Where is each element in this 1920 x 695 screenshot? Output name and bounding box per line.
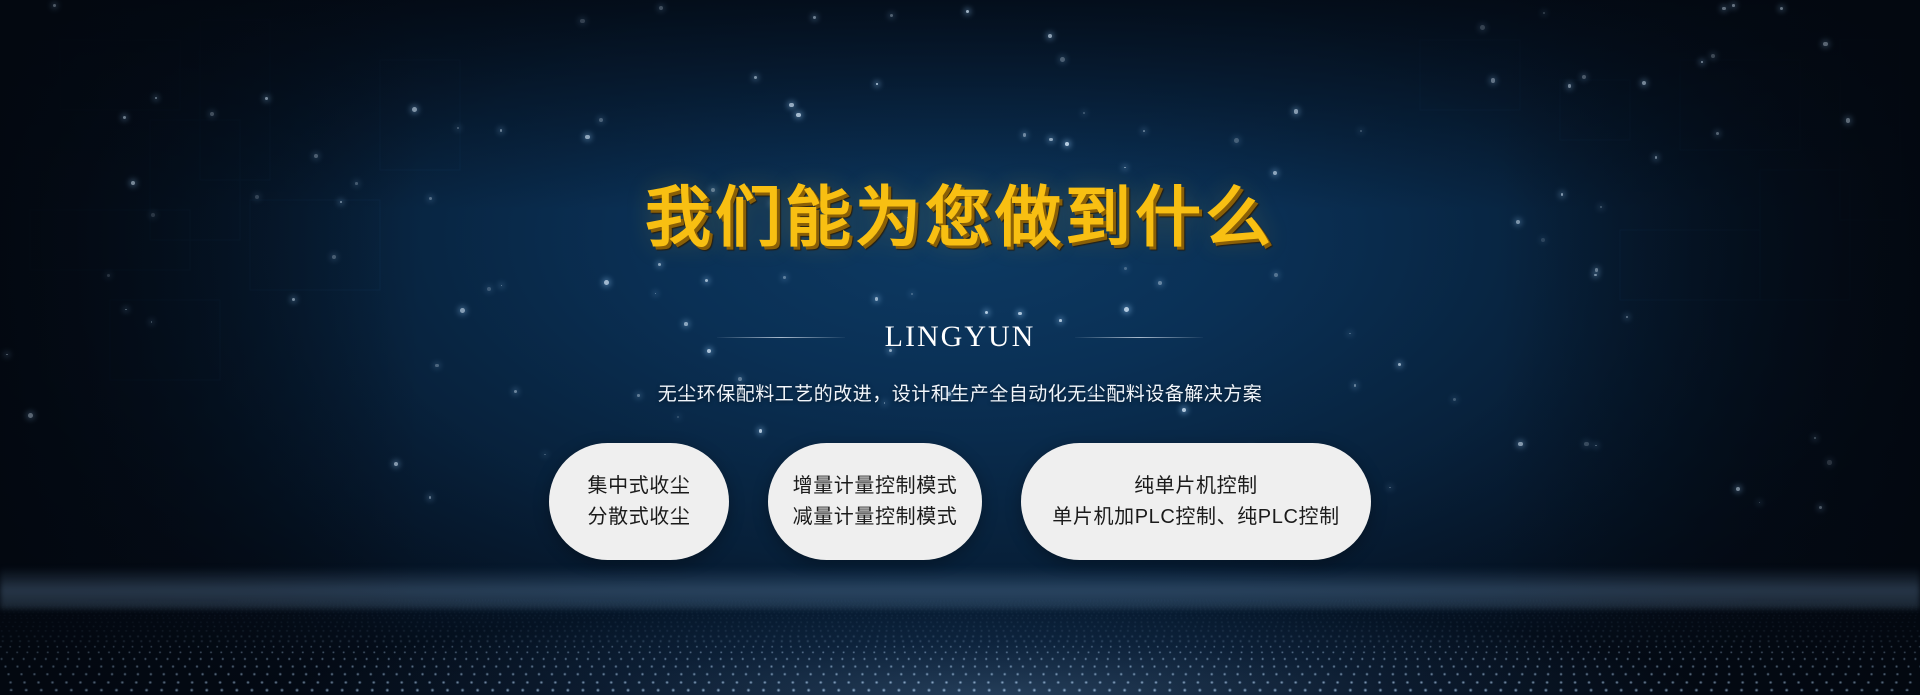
divider-line-left: [717, 337, 845, 338]
card-line: 集中式收尘: [588, 476, 691, 496]
hero-banner: 我们能为您做到什么 LINGYUN 无尘环保配料工艺的改进，设计和生产全自动化无…: [0, 0, 1920, 695]
card-line: 减量计量控制模式: [793, 507, 958, 527]
card-line: 纯单片机控制: [1134, 476, 1258, 496]
feature-card-metering-control-mode[interactable]: 增量计量控制模式 减量计量控制模式: [768, 443, 982, 560]
brand-subtitle: LINGYUN: [885, 322, 1036, 352]
feature-card-controller-type[interactable]: 纯单片机控制 单片机加PLC控制、纯PLC控制: [1021, 443, 1371, 560]
banner-content: 我们能为您做到什么 LINGYUN 无尘环保配料工艺的改进，设计和生产全自动化无…: [0, 0, 1920, 695]
feature-card-dust-collection[interactable]: 集中式收尘 分散式收尘: [549, 443, 729, 560]
page-title: 我们能为您做到什么: [0, 184, 1920, 250]
feature-card-list: 集中式收尘 分散式收尘 增量计量控制模式 减量计量控制模式 纯单片机控制 单片机…: [0, 443, 1920, 560]
divider-line-right: [1075, 337, 1203, 338]
card-line: 增量计量控制模式: [793, 476, 958, 496]
subtitle-row: LINGYUN: [0, 322, 1920, 352]
card-line: 分散式收尘: [588, 507, 691, 527]
page-description: 无尘环保配料工艺的改进，设计和生产全自动化无尘配料设备解决方案: [0, 379, 1920, 406]
card-line: 单片机加PLC控制、纯PLC控制: [1052, 507, 1339, 527]
